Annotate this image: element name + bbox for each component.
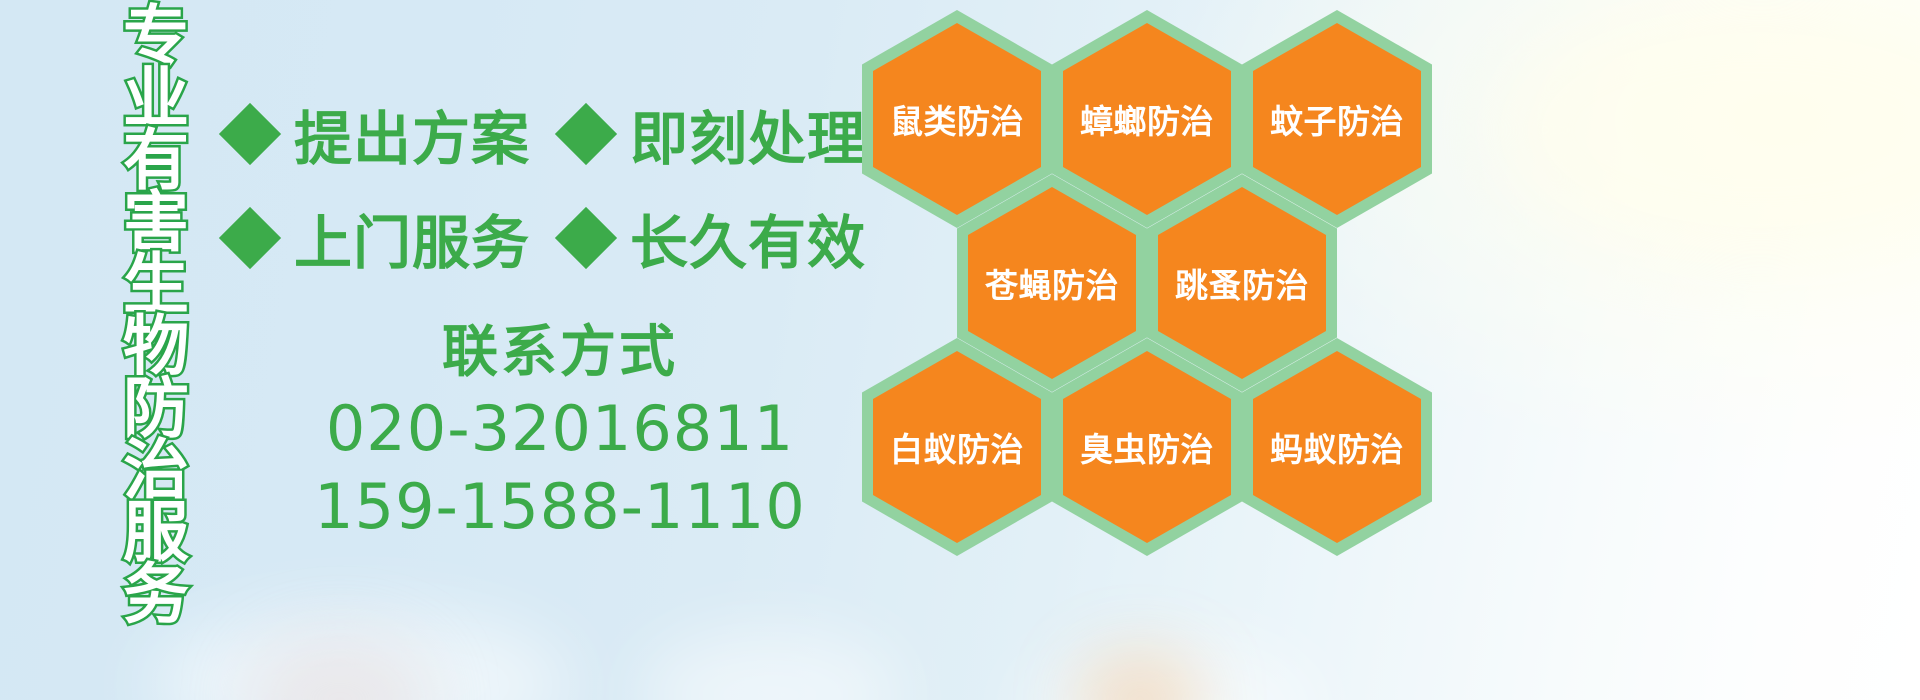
contact-phone-landline[interactable]: 020-32016811: [300, 390, 820, 468]
service-label: 跳蚤防治: [1175, 259, 1309, 307]
feature-item-propose-plan: 提出方案: [228, 92, 530, 176]
hex-inner: 鼠类防治: [873, 23, 1041, 215]
feature-item-onsite-service: 上门服务: [228, 196, 530, 280]
hex-inner: 蟑螂防治: [1063, 23, 1231, 215]
service-label: 苍蝇防治: [985, 259, 1119, 307]
hex-inner: 苍蝇防治: [968, 187, 1136, 379]
background-glow: [1500, 0, 1920, 260]
feature-item-long-lasting: 长久有效: [564, 196, 866, 280]
service-honeycomb: 鼠类防治 蟑螂防治 蚊子防治 苍蝇防治 跳蚤防治 白蚁防: [862, 0, 1462, 700]
feature-row: 提出方案 即刻处理: [228, 82, 868, 186]
feature-list: 提出方案 即刻处理 上门服务 长久有效: [228, 82, 868, 290]
background-haze-blob: [150, 610, 570, 700]
contact-block: 联系方式 020-32016811 159-1588-1110: [300, 316, 820, 546]
background-haze-blob: [640, 630, 900, 700]
vertical-headline-char: 有: [123, 130, 189, 192]
vertical-headline: 专 业 有 害 生 物 防 治 服 务: [104, 6, 208, 566]
vertical-headline-char: 害: [123, 192, 189, 254]
hex-inner: 白蚁防治: [873, 351, 1041, 543]
service-label: 鼠类防治: [890, 95, 1024, 143]
vertical-headline-char: 务: [123, 564, 189, 626]
background-haze-blob: [250, 640, 430, 700]
service-label: 臭虫防治: [1080, 423, 1214, 471]
service-label: 白蚁防治: [890, 423, 1024, 471]
vertical-headline-char: 业: [123, 68, 189, 130]
diamond-icon: [555, 207, 617, 269]
vertical-headline-char: 生: [123, 254, 189, 316]
vertical-headline-char: 服: [123, 502, 189, 564]
diamond-icon: [219, 207, 281, 269]
service-label: 蟑螂防治: [1080, 95, 1214, 143]
contact-title: 联系方式: [300, 316, 820, 390]
diamond-icon: [219, 103, 281, 165]
service-label: 蚂蚁防治: [1270, 423, 1404, 471]
feature-label: 上门服务: [294, 196, 530, 280]
feature-row: 上门服务 长久有效: [228, 186, 868, 290]
vertical-headline-char: 防: [123, 378, 189, 440]
hex-inner: 跳蚤防治: [1158, 187, 1326, 379]
hex-inner: 蚂蚁防治: [1253, 351, 1421, 543]
vertical-headline-char: 物: [123, 316, 189, 378]
feature-label: 提出方案: [294, 92, 530, 176]
feature-label: 即刻处理: [630, 92, 866, 176]
service-label: 蚊子防治: [1270, 95, 1404, 143]
contact-phone-mobile[interactable]: 159-1588-1110: [300, 468, 820, 546]
vertical-headline-char: 专: [123, 6, 189, 68]
vertical-headline-char: 治: [123, 440, 189, 502]
feature-label: 长久有效: [630, 196, 866, 280]
diamond-icon: [555, 103, 617, 165]
feature-item-immediate-handling: 即刻处理: [564, 92, 866, 176]
hex-inner: 蚊子防治: [1253, 23, 1421, 215]
promo-banner: 专 业 有 害 生 物 防 治 服 务 提出方案 即刻处理 上门服务: [0, 0, 1920, 700]
hex-inner: 臭虫防治: [1063, 351, 1231, 543]
